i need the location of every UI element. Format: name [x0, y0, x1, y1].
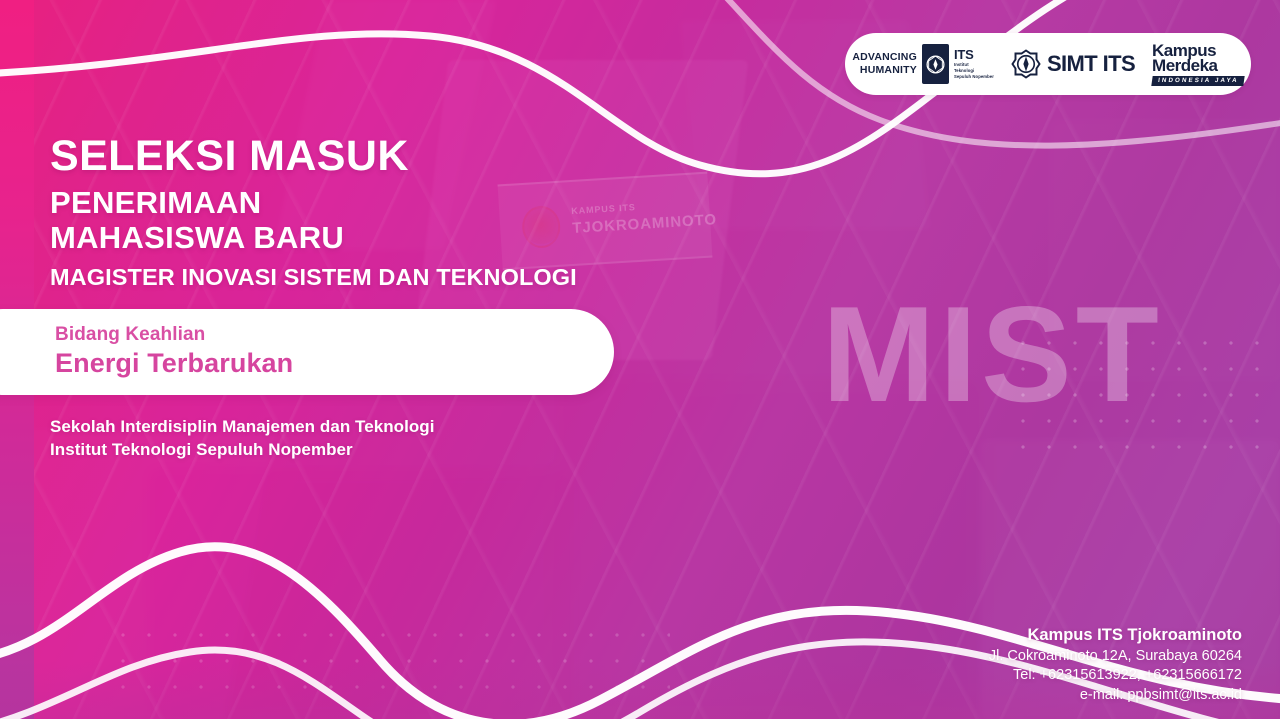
its-wordmark: ITS Institut Teknologi Sepuluh Nopember [954, 48, 994, 79]
logo-advancing-humanity: ADVANCING HUMANITY ITS Institut Teknolog… [852, 44, 994, 84]
headline-block: SELEKSI MASUK PENERIMAAN MAHASISWA BARU … [50, 135, 577, 291]
simt-its-wordmark: SIMT ITS [1047, 51, 1135, 77]
contact-email: e-mail: ppbsimt@its.ac.id [989, 686, 1242, 705]
signboard-line1: KAMPUS ITS [571, 202, 636, 216]
simt-gear-icon [1011, 49, 1041, 79]
its-gear-icon [925, 54, 946, 75]
school-line1: Sekolah Interdisiplin Manajemen dan Tekn… [50, 416, 435, 439]
advancing-line2: HUMANITY [852, 64, 917, 77]
advancing-line1: ADVANCING [852, 51, 917, 64]
headline-title: SELEKSI MASUK [50, 135, 577, 179]
contact-campus: Kampus ITS Tjokroaminoto [989, 624, 1242, 646]
headline-sub1: PENERIMAAN [50, 185, 577, 220]
field-label: Bidang Keahlian [55, 324, 614, 346]
advancing-humanity-text: ADVANCING HUMANITY [852, 51, 917, 77]
photo-shape [560, 380, 980, 719]
headline-program: MAGISTER INOVASI SISTEM DAN TEKNOLOGI [50, 264, 577, 291]
its-emblem-icon [922, 44, 949, 84]
logo-kampus-merdeka: Kampus Merdeka INDONESIA JAYA [1152, 43, 1244, 86]
poster-canvas: KAMPUS ITS TJOKROAMINOTO MIST ADVANCING … [0, 0, 1280, 719]
school-block: Sekolah Interdisiplin Manajemen dan Tekn… [50, 416, 435, 461]
its-abbrev: ITS [954, 48, 994, 61]
its-fullname: Institut Teknologi Sepuluh Nopember [954, 62, 994, 79]
its-fullname-line3: Sepuluh Nopember [954, 74, 994, 80]
kampus-merdeka-line2: Merdeka [1152, 58, 1217, 74]
school-line2: Institut Teknologi Sepuluh Nopember [50, 439, 435, 462]
field-of-study-pill: Bidang Keahlian Energi Terbarukan [0, 309, 614, 395]
kampus-merdeka-ribbon: INDONESIA JAYA [1151, 76, 1244, 86]
mist-watermark: MIST [822, 286, 1163, 422]
partner-logo-bar: ADVANCING HUMANITY ITS Institut Teknolog… [845, 33, 1251, 95]
contact-address: Jl. Cokroaminoto 12A, Surabaya 60264 [989, 647, 1242, 666]
contact-block: Kampus ITS Tjokroaminoto Jl. Cokroaminot… [989, 624, 1242, 705]
contact-phone: Tel: +62315613922, +62315666172 [989, 666, 1242, 685]
logo-simt-its: SIMT ITS [1011, 49, 1135, 79]
headline-sub2: MAHASISWA BARU [50, 220, 577, 255]
field-value: Energi Terbarukan [55, 347, 614, 379]
signboard-line2: TJOKROAMINOTO [572, 211, 718, 237]
photo-shape [150, 470, 570, 719]
